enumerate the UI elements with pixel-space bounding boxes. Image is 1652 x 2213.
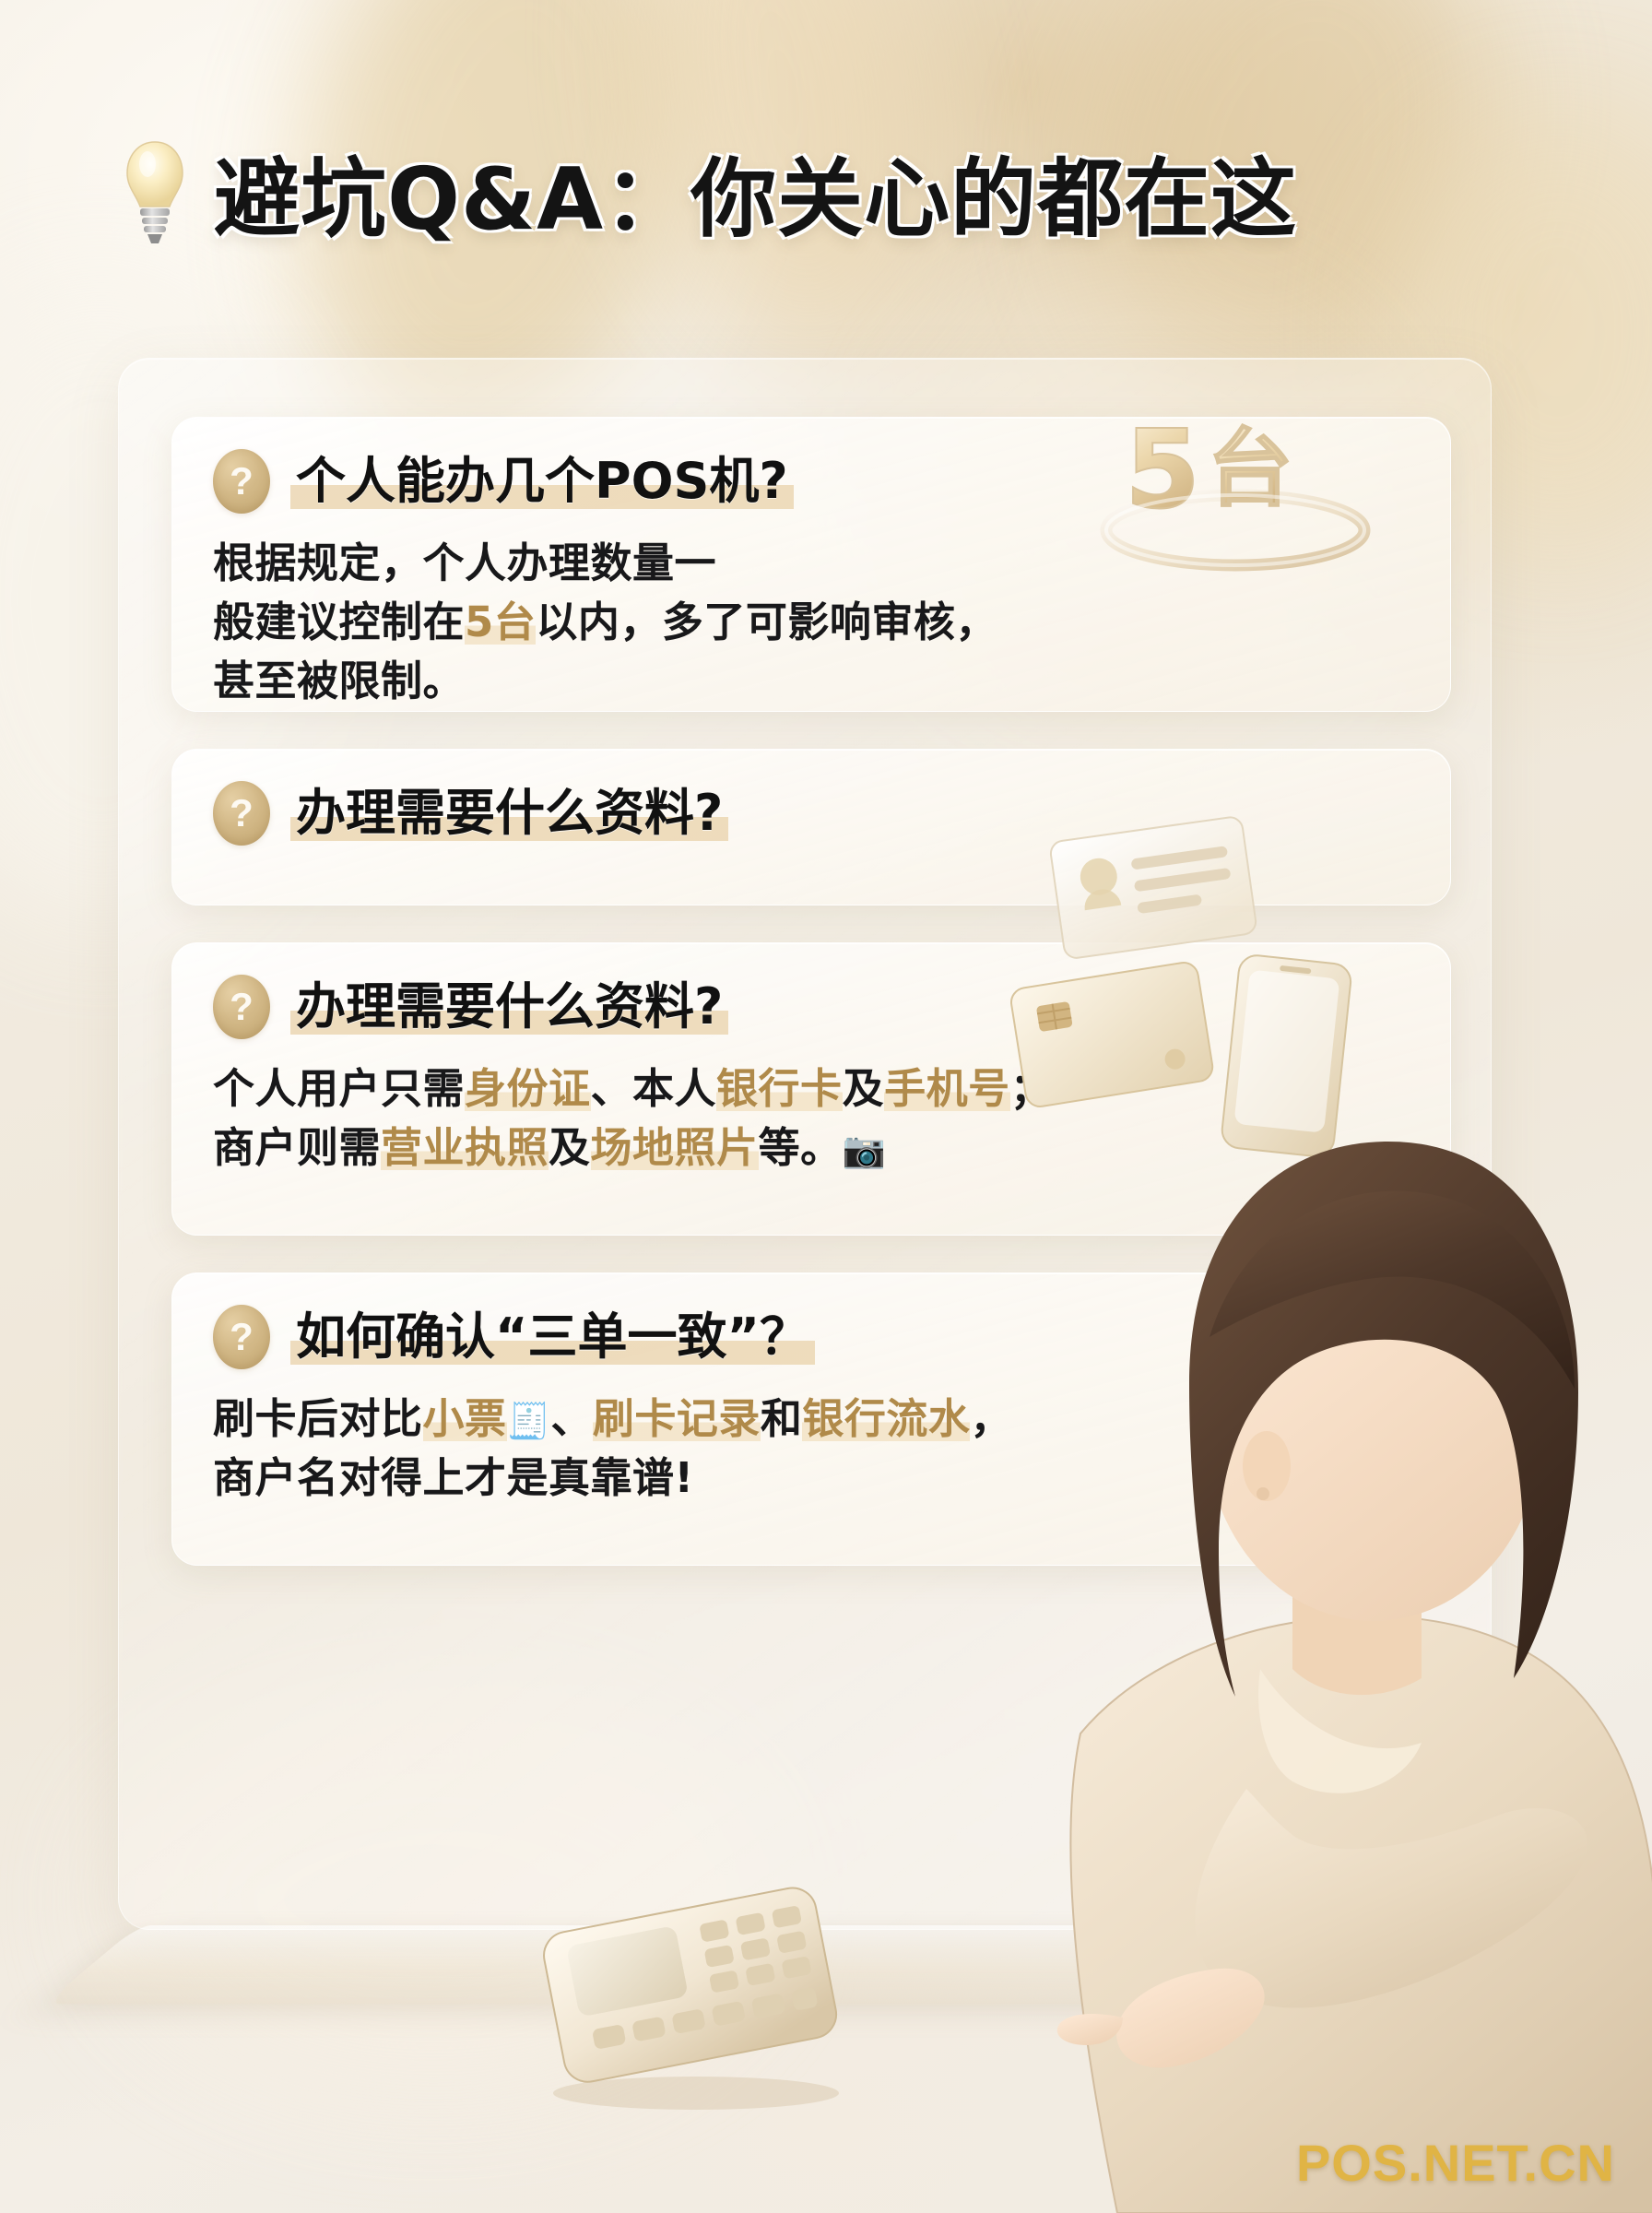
page-title: 避坑Q&A：你关心的都在这 xyxy=(214,129,1297,254)
highlight-keyword: 营业执照 xyxy=(381,1123,549,1172)
answer-run: 刷卡后对比 xyxy=(213,1394,423,1443)
question-text: 办理需要什么资料? xyxy=(290,977,728,1036)
page-header: 避坑Q&A：你关心的都在这 xyxy=(120,129,1297,254)
answer-run: 个人用户只需 xyxy=(213,1064,465,1113)
qa-card[interactable]: ? 办理需要什么资料? xyxy=(171,749,1451,905)
answer-run: 甚至被限制。 xyxy=(213,657,465,705)
question-text: 个人能办几个POS机? xyxy=(290,452,794,511)
watermark: POS.NET.CN xyxy=(1296,2133,1615,2193)
answer-run: 及 xyxy=(549,1123,591,1172)
question-row: ? 个人能办几个POS机? xyxy=(213,449,1410,514)
inline-emoji: 📷 xyxy=(843,1130,887,1170)
lightbulb-icon xyxy=(120,138,190,245)
question-text: 如何确认“三单一致”？ xyxy=(290,1308,815,1367)
answer-run: 根据规定，个人办理数量一 xyxy=(213,538,716,587)
character-illustration xyxy=(942,1033,1652,2213)
question-mark-icon: ? xyxy=(213,975,270,1039)
question-mark-icon: ? xyxy=(213,449,270,514)
question-mark-icon: ? xyxy=(213,781,270,846)
highlight-keyword: 银行卡 xyxy=(716,1064,843,1113)
highlight-keyword: 刷卡记录 xyxy=(593,1394,761,1443)
inline-emoji: 🧾 xyxy=(507,1401,551,1441)
highlight-keyword: 5台 xyxy=(465,598,536,646)
answer-line: 般建议控制在5台以内，多了可影响审核， xyxy=(213,593,1410,652)
answer-run: 商户名对得上才是真靠谱! xyxy=(213,1453,694,1502)
answer-run: 、 xyxy=(550,1394,593,1443)
answer-run: 般建议控制在 xyxy=(213,598,465,646)
highlight-keyword: 小票 xyxy=(423,1394,507,1443)
answer-line: 根据规定，个人办理数量一 xyxy=(213,534,1410,593)
pos-terminal-icon xyxy=(498,1872,885,2112)
answer-text: 根据规定，个人办理数量一般建议控制在5台以内，多了可影响审核，甚至被限制。 xyxy=(213,534,1410,711)
question-row: ? 办理需要什么资料? xyxy=(213,975,1410,1039)
answer-run: 、本人 xyxy=(591,1064,717,1113)
answer-run: 等。 xyxy=(759,1123,843,1172)
answer-line: 甚至被限制。 xyxy=(213,652,1410,711)
answer-run: 以内，多了可影响审核， xyxy=(536,598,997,646)
question-text: 办理需要什么资料? xyxy=(290,784,728,843)
question-row: ? 办理需要什么资料? xyxy=(213,781,1410,846)
highlight-keyword: 身份证 xyxy=(465,1064,591,1113)
answer-run: 及 xyxy=(843,1064,885,1113)
question-mark-icon: ? xyxy=(213,1305,270,1369)
answer-run: 和 xyxy=(761,1394,803,1443)
answer-run: 商户则需 xyxy=(213,1123,381,1172)
highlight-keyword: 场地照片 xyxy=(591,1123,759,1172)
qa-card[interactable]: ? 个人能办几个POS机? 根据规定，个人办理数量一般建议控制在5台以内，多了可… xyxy=(171,417,1451,712)
